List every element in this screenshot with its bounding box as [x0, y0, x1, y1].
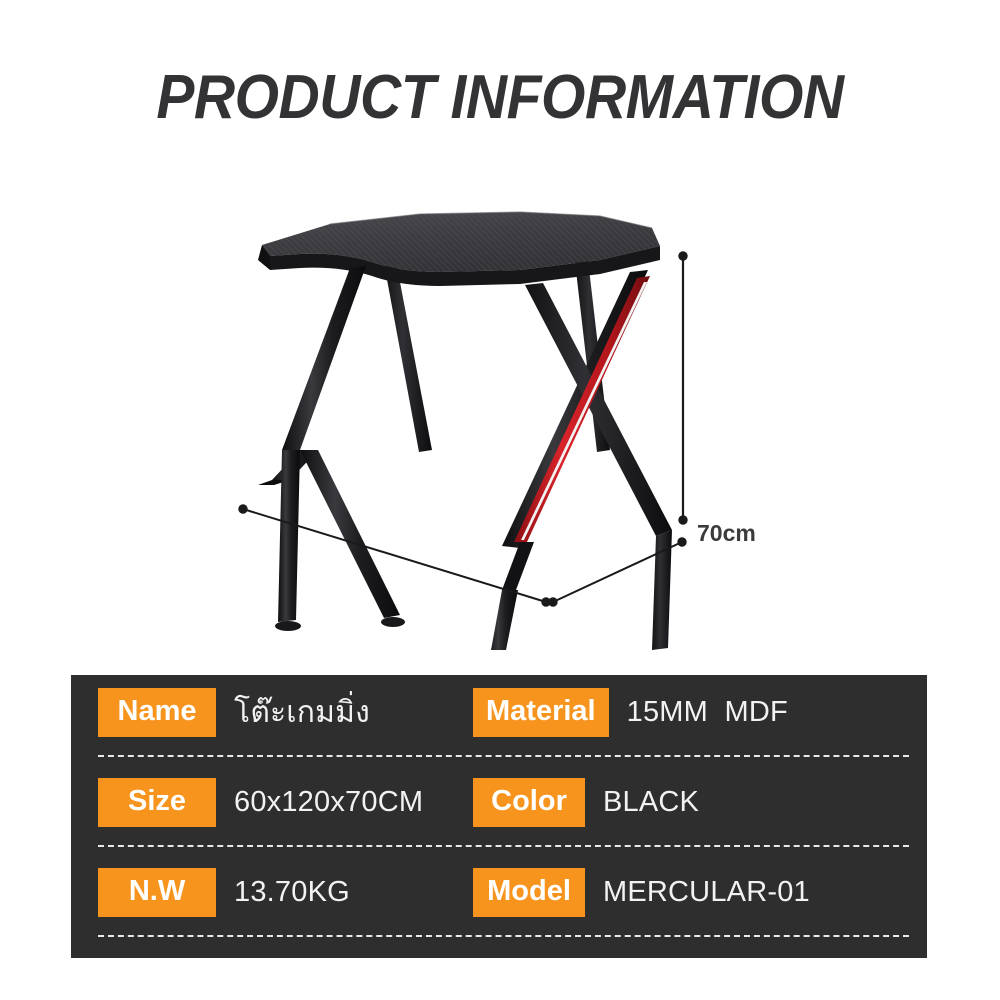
spec-label-name: Name	[98, 688, 216, 737]
spec-label-net-weight: N.W	[98, 868, 216, 917]
spec-row-separator	[98, 845, 909, 847]
spec-value-color: BLACK	[603, 786, 699, 819]
spec-value-net-weight: 13.70KG	[234, 876, 350, 909]
spec-label-material: Material	[473, 688, 609, 737]
gaming-desk-illustration	[0, 150, 1000, 650]
spec-cell-name: Name โต๊ะเกมมิ่ง	[71, 675, 473, 749]
spec-label-size: Size	[98, 778, 216, 827]
desk-leg-front-left	[258, 266, 405, 631]
desk-foot	[275, 621, 301, 631]
spec-label-model: Model	[473, 868, 585, 917]
spec-cell-material: Material 15MM MDF	[473, 675, 927, 749]
spec-row: Name โต๊ะเกมมิ่ง Material 15MM MDF	[71, 675, 927, 765]
spec-value-name: โต๊ะเกมมิ่ง	[234, 689, 370, 736]
product-image: 70cm 120cm 60cm	[0, 150, 1000, 650]
desk-foot	[381, 617, 405, 627]
spec-row: N.W 13.70KG Model MERCULAR-01	[71, 855, 927, 945]
spec-cell-net-weight: N.W 13.70KG	[71, 855, 473, 929]
spec-row: Size 60x120x70CM Color BLACK	[71, 765, 927, 855]
spec-value-size: 60x120x70CM	[234, 786, 423, 819]
spec-row-separator	[98, 755, 909, 757]
specification-panel: Name โต๊ะเกมมิ่ง Material 15MM MDF Size …	[71, 675, 927, 958]
dimension-label-height: 70cm	[697, 520, 756, 547]
spec-cell-model: Model MERCULAR-01	[473, 855, 927, 929]
page-title: PRODUCT INFORMATION	[40, 62, 960, 134]
spec-cell-color: Color BLACK	[473, 765, 927, 839]
spec-value-material: 15MM MDF	[627, 696, 788, 729]
desk-leg-front-right	[483, 270, 672, 650]
desk-top	[258, 212, 660, 286]
spec-row-separator	[98, 935, 909, 937]
spec-cell-size: Size 60x120x70CM	[71, 765, 473, 839]
spec-value-model: MERCULAR-01	[603, 876, 810, 909]
spec-label-color: Color	[473, 778, 585, 827]
